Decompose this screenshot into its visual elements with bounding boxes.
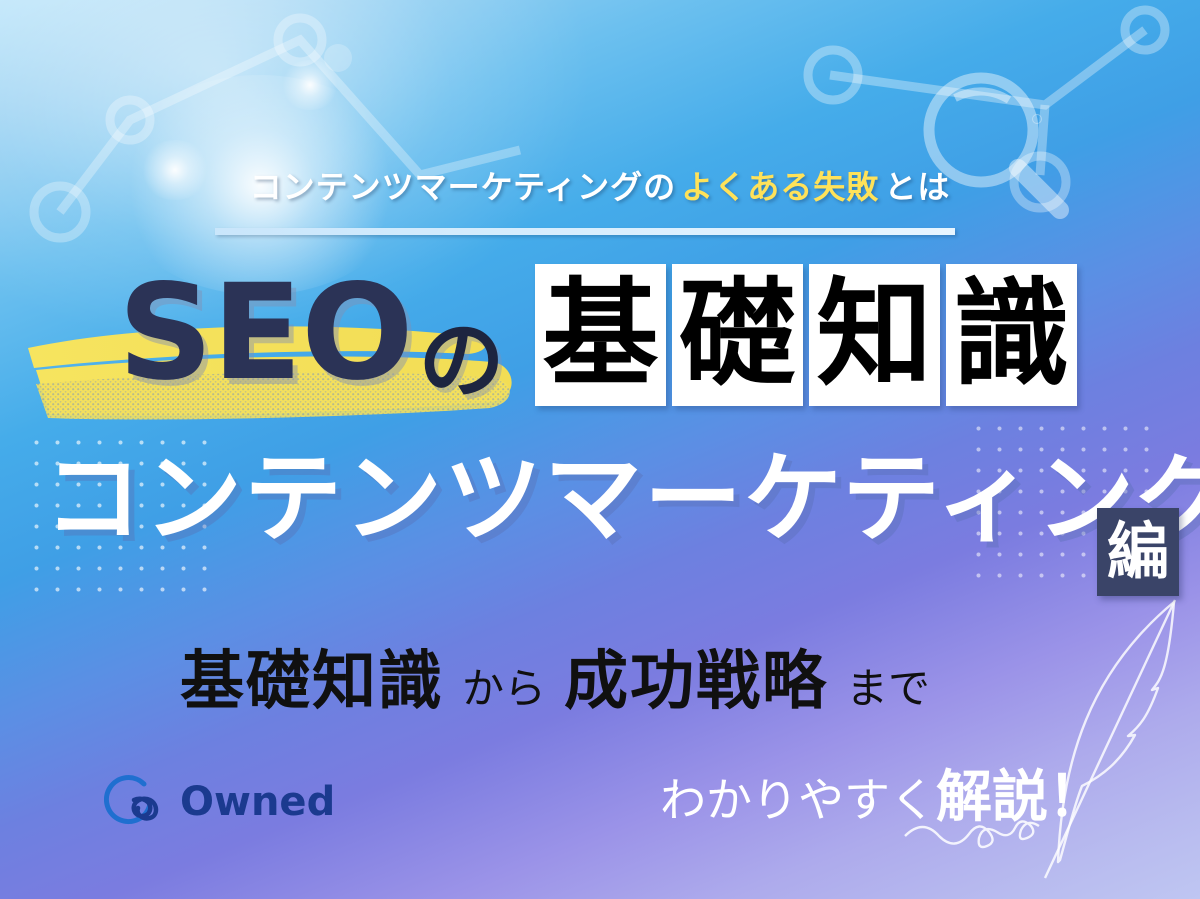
header-prefix: コンテンツマーケティングの <box>250 168 676 206</box>
subheadline-part1: 基礎知識 <box>176 630 448 722</box>
header-text-row: コンテンツマーケティングの よくある失敗 とは <box>0 162 1200 208</box>
owned-logo[interactable]: Owned <box>104 770 335 834</box>
kanji-box-3-label: 知 <box>817 277 933 393</box>
headline-second-line: コンテンツマーケティング <box>44 450 1200 548</box>
owned-circle-logo-icon <box>104 770 168 834</box>
owned-logo-text: Owned <box>180 779 335 825</box>
node-link-right-icon <box>830 30 1145 175</box>
subheadline-part2: 成功戦略 <box>560 630 832 722</box>
headline-no-particle: の <box>418 290 504 415</box>
kanji-box-1: 基 <box>535 264 666 406</box>
subheadline-conn1: から <box>462 664 546 713</box>
banner-canvas: コンテンツマーケティングの よくある失敗 とは SEO の 基 礎 知 識 <box>0 0 1200 899</box>
header-divider-rule <box>215 228 955 235</box>
kanji-box-4: 識 <box>946 264 1077 406</box>
kanji-box-3: 知 <box>809 264 940 406</box>
headline-seo-line: SEO の <box>118 258 504 408</box>
lens-flare-small-2 <box>280 60 340 110</box>
kanji-box-2-label: 礎 <box>680 277 796 393</box>
kanji-box-1-label: 基 <box>543 277 659 393</box>
subheadline-conn2: まで <box>846 664 930 713</box>
tagline-kana: わかりやすく <box>660 773 936 827</box>
headline-seo: SEO <box>118 267 412 399</box>
header-emphasis: よくある失敗 <box>681 168 879 206</box>
header-suffix: とは <box>884 168 950 206</box>
subheadline-row: 基礎知識から成功戦略まで <box>0 630 1120 722</box>
kanji-box-2: 礎 <box>672 264 803 406</box>
hen-badge-label: 編 <box>1107 521 1169 583</box>
kanji-box-group: 基 礎 知 識 <box>535 264 1077 406</box>
hen-badge: 編 <box>1097 508 1179 596</box>
tagline-kanji: 解説！ <box>936 764 1104 830</box>
tagline-row: わかりやすく解説！ <box>660 752 1104 833</box>
kanji-box-4-label: 識 <box>954 277 1070 393</box>
headline-content-marketing: コンテンツマーケティング <box>44 442 1200 556</box>
